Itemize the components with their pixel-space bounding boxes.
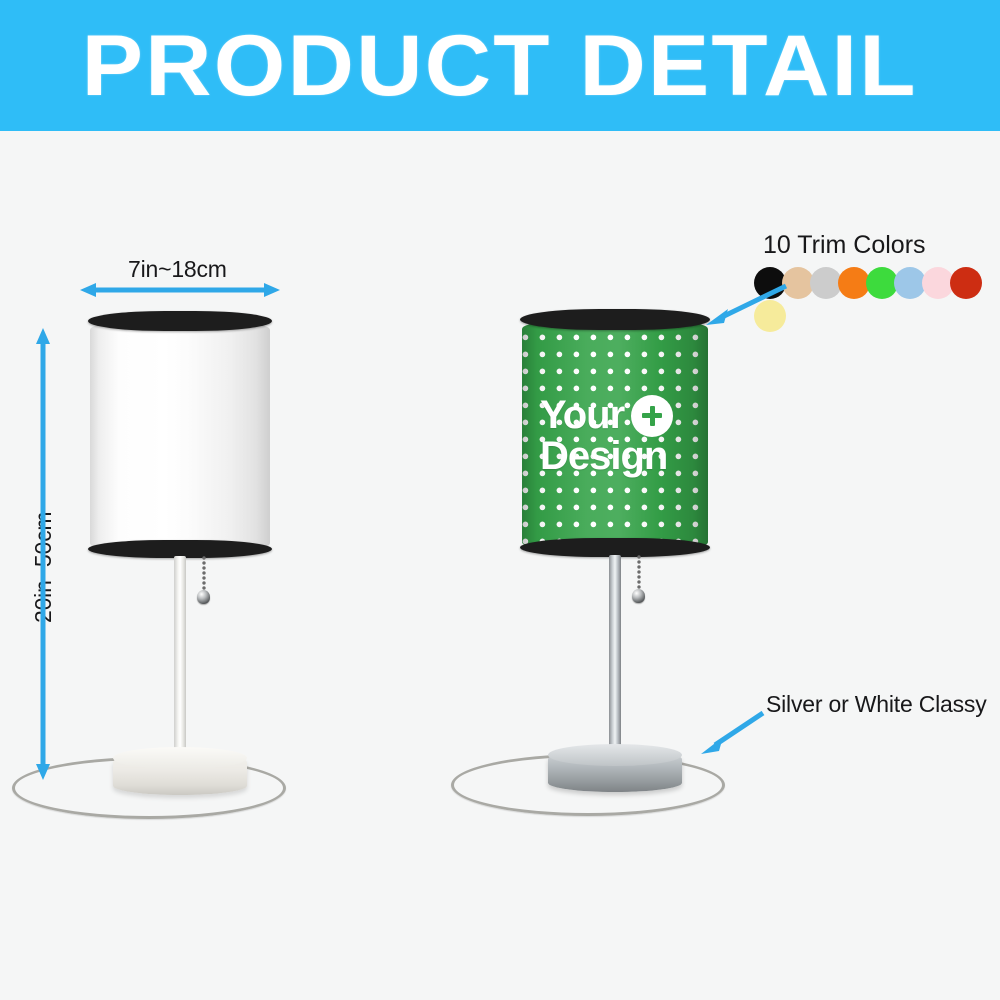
- white-shade-top-trim: [88, 311, 272, 331]
- width-dimension-label: 7in~18cm: [128, 256, 227, 283]
- trim-swatch-red[interactable]: [950, 267, 982, 299]
- product-detail-page: PRODUCT DETAIL Your: [0, 0, 1000, 1000]
- green-lampshade: Your Design: [522, 317, 708, 554]
- green-shade-body: [522, 317, 708, 554]
- base-material-label: Silver or White Classy: [766, 691, 987, 718]
- silver-lamp-base-top: [548, 744, 682, 766]
- green-lamp-pole: [609, 555, 621, 767]
- trim-colors-title: 10 Trim Colors: [763, 231, 926, 260]
- width-dimension-arrow: [80, 280, 280, 300]
- green-pull-chain-ball[interactable]: [632, 589, 645, 603]
- height-dimension-arrow: [33, 328, 53, 780]
- white-lampshade: [90, 318, 270, 555]
- white-lamp-pole: [174, 556, 186, 770]
- white-lamp-base-top: [113, 747, 247, 769]
- base-material-arrow: [697, 709, 767, 757]
- header-banner: PRODUCT DETAIL: [0, 0, 1000, 131]
- white-pull-chain-ball[interactable]: [197, 590, 210, 604]
- white-shade-body: [90, 318, 270, 555]
- trim-colors-arrow: [700, 283, 790, 328]
- page-title: PRODUCT DETAIL: [82, 23, 918, 109]
- green-shade-top-trim: [520, 309, 710, 330]
